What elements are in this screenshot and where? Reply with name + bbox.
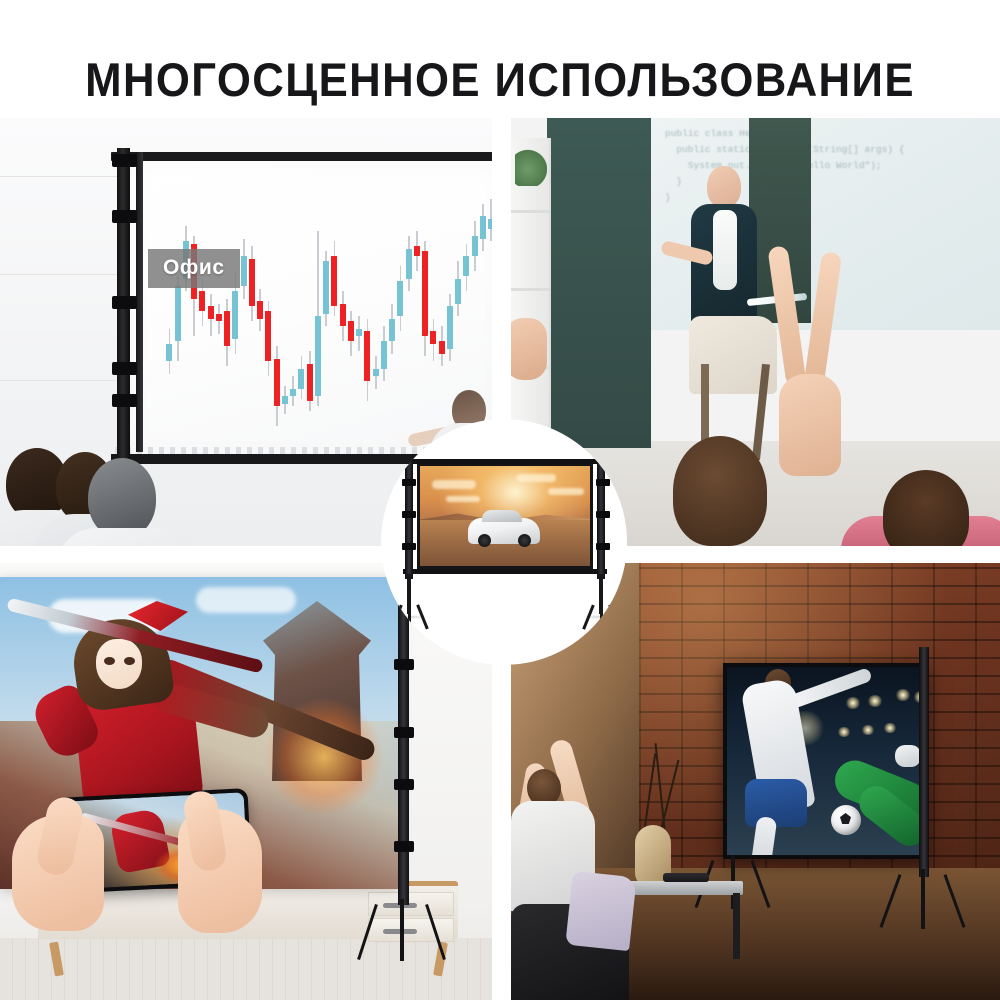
pole-clamp bbox=[112, 210, 137, 223]
player-shorts bbox=[745, 779, 807, 827]
stadium-light bbox=[861, 725, 875, 735]
product-hero-stand bbox=[381, 419, 627, 665]
pole-clamp bbox=[112, 296, 137, 309]
candle-body bbox=[472, 236, 478, 256]
cloud bbox=[432, 480, 476, 489]
candle-body bbox=[224, 311, 230, 346]
stadium-light bbox=[895, 689, 911, 701]
tripod-base-gaming bbox=[362, 899, 446, 965]
green-wall-panel bbox=[547, 118, 651, 448]
car-wheel bbox=[518, 534, 531, 547]
stadium-light bbox=[867, 695, 883, 707]
candle-body bbox=[290, 389, 296, 397]
candle-body bbox=[340, 304, 346, 327]
tripod-leg bbox=[400, 899, 404, 961]
candle-body bbox=[447, 306, 453, 349]
candle-body bbox=[364, 331, 370, 381]
stand-pole bbox=[117, 148, 130, 470]
candle-body bbox=[406, 249, 412, 279]
candle-body bbox=[216, 314, 222, 322]
candle-body bbox=[315, 316, 321, 396]
teacher-shirt bbox=[713, 210, 737, 290]
hero-tripod-left bbox=[403, 574, 415, 618]
pole-clamp bbox=[596, 479, 610, 486]
student-head bbox=[673, 436, 767, 546]
stand-pole-match bbox=[919, 647, 929, 877]
sports-car bbox=[468, 518, 540, 544]
code-line: System.out.println("Hello World"); bbox=[665, 158, 965, 174]
tripod-leg bbox=[921, 869, 925, 929]
candle-body bbox=[463, 256, 469, 276]
stadium-light bbox=[883, 723, 897, 733]
projection-surface bbox=[129, 158, 492, 458]
pole-clamp bbox=[112, 154, 137, 167]
badge-office: Офис bbox=[148, 249, 240, 288]
branch bbox=[644, 753, 657, 829]
promo-banner: МНОГОСЦЕННОЕ ИСПОЛЬЗОВАНИЕ bbox=[0, 0, 1000, 1000]
candle-body bbox=[381, 341, 387, 369]
candle-body bbox=[430, 331, 436, 344]
pole-clamp bbox=[596, 511, 610, 518]
hero-bottom-rail bbox=[403, 569, 607, 574]
candle-body bbox=[274, 359, 280, 407]
hands-holding-phone bbox=[12, 779, 262, 939]
pole-clamp bbox=[394, 779, 414, 790]
candle-body bbox=[232, 291, 238, 339]
student-raised-hand-left bbox=[511, 290, 549, 382]
pole-clamp bbox=[394, 841, 414, 852]
stadium-light bbox=[845, 697, 861, 709]
stand-pole-secondary bbox=[136, 152, 143, 452]
plant-icon bbox=[515, 144, 547, 186]
decorative-branches bbox=[631, 743, 683, 829]
character-eye bbox=[124, 657, 135, 665]
product-hero-circle bbox=[381, 419, 627, 665]
candle-body bbox=[282, 396, 288, 404]
tripod-leg bbox=[944, 874, 966, 928]
candle-body bbox=[199, 291, 205, 311]
candle-body bbox=[241, 256, 247, 286]
car-wheel bbox=[478, 534, 491, 547]
candle-body bbox=[389, 319, 395, 342]
candle-body bbox=[257, 301, 263, 319]
student-raised-hand bbox=[773, 246, 845, 476]
palm bbox=[779, 374, 841, 476]
candle-body bbox=[356, 329, 362, 337]
candle-body bbox=[307, 364, 313, 402]
shelf-divider bbox=[511, 210, 551, 213]
table-leg bbox=[733, 893, 740, 959]
candle-body bbox=[422, 251, 428, 336]
finger bbox=[804, 251, 842, 384]
candle-body bbox=[397, 281, 403, 316]
candle-body bbox=[265, 311, 271, 361]
pole-clamp bbox=[394, 727, 414, 738]
teacher-head bbox=[707, 166, 741, 208]
character-face bbox=[96, 639, 142, 689]
pole-clamp bbox=[112, 362, 137, 375]
cloud bbox=[516, 474, 556, 482]
projection-surface-match bbox=[723, 663, 927, 859]
candle-body bbox=[331, 256, 337, 306]
throw-blanket bbox=[565, 871, 636, 951]
branch bbox=[661, 760, 680, 828]
candlestick-chart bbox=[165, 186, 492, 436]
tripod-leg bbox=[425, 904, 446, 960]
pole-clamp bbox=[596, 543, 610, 550]
audience-head bbox=[88, 458, 156, 538]
palm bbox=[511, 318, 547, 380]
goalkeeper-glove bbox=[895, 745, 921, 767]
candle-body bbox=[323, 261, 329, 314]
candle-body bbox=[480, 216, 486, 239]
candle-body bbox=[166, 344, 172, 362]
character-eye bbox=[104, 657, 115, 665]
soccer-ball bbox=[831, 805, 861, 835]
candle-body bbox=[348, 321, 354, 341]
candle-body bbox=[414, 246, 420, 256]
cloud bbox=[446, 496, 480, 502]
pole-clamp bbox=[402, 511, 416, 518]
page-title: МНОГОСЦЕННОЕ ИСПОЛЬЗОВАНИЕ bbox=[35, 52, 965, 107]
hero-top-rail bbox=[403, 459, 607, 464]
hero-tripod-right bbox=[595, 574, 607, 618]
candle-body bbox=[439, 341, 445, 354]
candle-body bbox=[175, 286, 181, 341]
hero-shadow bbox=[581, 615, 615, 619]
hero-shadow bbox=[395, 615, 429, 619]
cloud bbox=[548, 488, 584, 495]
code-line: public static void main(String[] args) { bbox=[665, 142, 965, 158]
finger bbox=[767, 245, 806, 386]
remote-control[interactable] bbox=[663, 873, 709, 882]
cloud bbox=[196, 587, 296, 613]
candle-body bbox=[298, 369, 304, 389]
candle-body bbox=[455, 279, 461, 304]
candle-body bbox=[373, 369, 379, 377]
screen-top-rail bbox=[111, 152, 492, 161]
pole-clamp bbox=[402, 543, 416, 550]
stadium-light bbox=[837, 727, 851, 737]
pole-clamp bbox=[402, 479, 416, 486]
code-line: public class HelloWorld { bbox=[665, 126, 965, 142]
tripod-base-match bbox=[887, 869, 963, 931]
candle-body bbox=[249, 259, 255, 307]
candle-body bbox=[488, 219, 492, 229]
hero-projection-surface bbox=[417, 463, 593, 569]
pole-clamp bbox=[112, 394, 137, 407]
candle-body bbox=[208, 306, 214, 319]
